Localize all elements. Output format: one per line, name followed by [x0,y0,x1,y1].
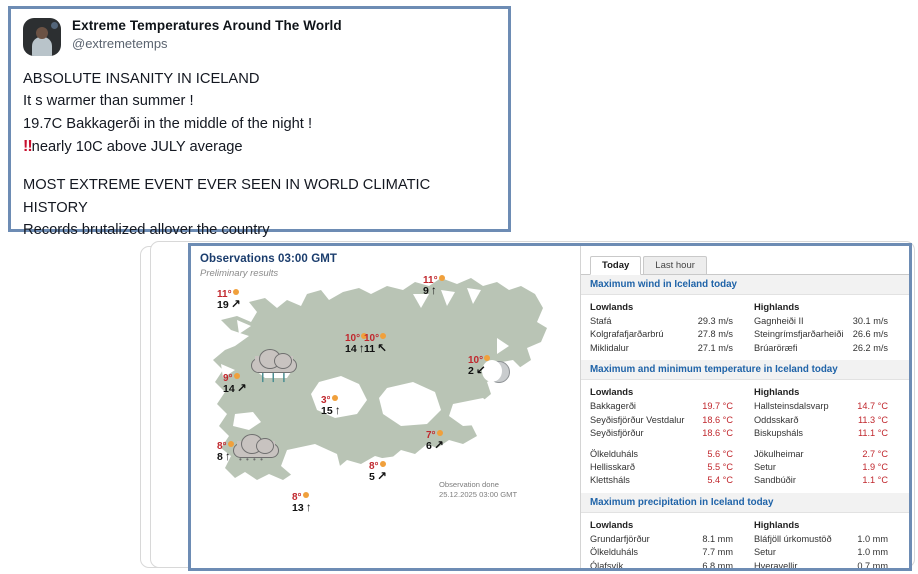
station-value: 7.7 mm [702,546,733,559]
row-gap [754,441,900,448]
station-value: 1.0 mm [857,546,888,559]
avatar-highlight [51,22,58,29]
map-station-reading: 8°13↑ [292,491,312,514]
map-station-reading: 11°19↗ [217,288,241,311]
table-row: Gagnheiði II30.1 m/s [754,315,900,328]
station-value: 11.1 °C [858,427,888,440]
table-row: Bláfjöll úrkomustöð1.0 mm [754,533,900,546]
wind-direction-arrow-icon: ↙ [476,364,486,376]
station-name: Jökulheimar [754,448,804,461]
cloud-snow-icon: • • • • [233,434,279,458]
table-row: Steingrímsfjarðarheiði26.6 m/s [754,328,900,341]
double-exclamation-icon: !! [23,138,32,155]
station-name: Steingrímsfjarðarheiði [754,328,843,341]
table-row: Hellisskarð5.5 °C [590,461,745,474]
station-wind-speed: 19↗ [217,298,241,311]
map-station-reading: 10°11↖ [364,332,387,355]
paragraph-gap [23,159,496,174]
station-name: Gagnheiði II [754,315,804,328]
section-title-wind: Maximum wind in Iceland today [581,275,909,295]
station-dot-icon [439,275,445,281]
observations-data-column: Today Last hour Maximum wind in Iceland … [580,246,909,568]
wind-highlands-header: Highlands [754,301,900,312]
tweet-line-6: Records brutalized allover the country [23,219,496,241]
station-name: Stafá [590,315,611,328]
tab-last-hour[interactable]: Last hour [643,256,707,275]
station-value: 1.0 mm [857,533,888,546]
table-row: Bakkagerði19.7 °C [590,400,745,413]
map-station-reading: 3°15↑ [321,394,341,417]
station-value: 5.6 °C [707,448,733,461]
table-row: Klettsháls5.4 °C [590,474,745,487]
station-value: 1.1 °C [862,474,888,487]
tweet-text: ABSOLUTE INSANITY IN ICELAND It s warmer… [11,56,508,241]
station-dot-icon [380,333,386,339]
table-row: Stafá29.3 m/s [590,315,745,328]
table-row: Setur1.0 mm [754,546,900,559]
table-row: Hveravellir0.7 mm [754,560,900,568]
table-row: Grundarfjörður8.1 mm [590,533,745,546]
tweet-line-3: 19.7C Bakkagerði in the middle of the ni… [23,113,496,135]
station-wind-speed: 15↑ [321,404,341,417]
station-wind-speed: 2↙ [468,364,490,377]
weather-observation-panel: Observations 03:00 GMT Preliminary resul… [188,243,912,571]
tweet-header: Extreme Temperatures Around The World @e… [11,9,508,56]
iceland-map-panel[interactable]: Observations 03:00 GMT Preliminary resul… [191,246,580,568]
observation-note-line-1: Observation done [439,480,517,490]
station-dot-icon [484,355,490,361]
station-value: 26.6 m/s [853,328,888,341]
temperature-lowlands-column: Lowlands Bakkagerði19.7 °C Seyðisfjörður… [590,386,745,488]
station-name: Seyðisfjörður Vestdalur [590,414,684,427]
station-name: Biskupsháls [754,427,803,440]
station-name: Seyðisfjörður [590,427,644,440]
section-temperature-grid: Lowlands Bakkagerði19.7 °C Seyðisfjörður… [581,380,909,493]
table-row: Brúaröræfi26.2 m/s [754,342,900,355]
wind-direction-arrow-icon: ↑ [225,450,231,462]
station-dot-icon [234,373,240,379]
station-value: 29.3 m/s [698,315,733,328]
crescent-moon-icon [488,361,510,383]
station-value: 27.1 m/s [698,342,733,355]
precipitation-lowlands-header: Lowlands [590,519,745,530]
station-wind-speed: 5↗ [369,470,387,483]
precipitation-highlands-column: Highlands Bláfjöll úrkomustöð1.0 mm Setu… [745,519,900,568]
table-row: Oddsskarð11.3 °C [754,414,900,427]
table-row: Jökulheimar2.7 °C [754,448,900,461]
table-row: Ólafsvík6.8 mm [590,560,745,568]
wind-direction-arrow-icon: ↗ [434,439,444,451]
station-name: Bláfjöll úrkomustöð [754,533,832,546]
tweet-card: Extreme Temperatures Around The World @e… [8,6,511,232]
temperature-lowlands-header: Lowlands [590,386,745,397]
wind-lowlands-column: Lowlands Stafá29.3 m/s Kolgrafafjarðarbr… [590,301,745,355]
section-precipitation-grid: Lowlands Grundarfjörður8.1 mm Ölkelduhál… [581,513,909,568]
table-row: Setur1.9 °C [754,461,900,474]
station-value: 26.2 m/s [853,342,888,355]
tab-today[interactable]: Today [590,256,641,275]
station-name: Brúaröræfi [754,342,797,355]
station-value: 18.6 °C [702,427,733,440]
station-dot-icon [303,492,309,498]
station-dot-icon [233,289,239,295]
precipitation-lowlands-column: Lowlands Grundarfjörður8.1 mm Ölkelduhál… [590,519,745,568]
table-row: Sandbúðir1.1 °C [754,474,900,487]
tweet-identity: Extreme Temperatures Around The World @e… [72,18,342,51]
account-handle[interactable]: @extremetemps [72,37,342,52]
tweet-line-2: It s warmer than summer ! [23,90,496,112]
station-value: 2.7 °C [862,448,888,461]
station-value: 5.4 °C [707,474,733,487]
station-value: 19.7 °C [702,400,733,413]
station-wind-speed: 14↗ [223,382,247,395]
station-name: Ólafsvík [590,560,623,568]
observation-note: Observation done 25.12.2025 03:00 GMT [439,480,517,501]
station-name: Oddsskarð [754,414,798,427]
station-value: 18.6 °C [702,414,733,427]
station-wind-speed: 9↑ [423,284,445,297]
station-dot-icon [437,430,443,436]
account-display-name[interactable]: Extreme Temperatures Around The World [72,18,342,34]
station-wind-speed: 11↖ [364,342,387,355]
station-name: Miklidalur [590,342,629,355]
map-station-reading: 8°8↑ [217,440,234,463]
table-row: Hallsteinsdalsvarp14.7 °C [754,400,900,413]
wind-direction-arrow-icon: ↑ [431,284,437,296]
station-value: 27.8 m/s [698,328,733,341]
station-name: Ölkelduháls [590,448,638,461]
station-dot-icon [380,461,386,467]
avatar[interactable] [23,18,61,56]
station-name: Hveravellir [754,560,797,568]
station-value: 1.9 °C [862,461,888,474]
station-name: Hallsteinsdalsvarp [754,400,829,413]
table-row: Ölkelduháls7.7 mm [590,546,745,559]
station-name: Grundarfjörður [590,533,650,546]
iceland-landmass-shape [191,264,580,564]
observation-note-line-2: 25.12.2025 03:00 GMT [439,490,517,500]
tweet-line-1: ABSOLUTE INSANITY IN ICELAND [23,68,496,90]
map-station-reading: 10°2↙ [468,354,490,377]
section-title-temperature: Maximum and minimum temperature in Icela… [581,360,909,380]
station-value: 8.1 mm [702,533,733,546]
station-name: Setur [754,546,776,559]
station-dot-icon [332,395,338,401]
table-row: Kolgrafafjarðarbrú27.8 m/s [590,328,745,341]
wind-direction-arrow-icon: ↗ [377,470,387,482]
row-gap [590,441,745,448]
station-name: Setur [754,461,776,474]
cloud-rain-icon: ❙❙❙ [251,349,297,373]
map-station-reading: 7°6↗ [426,429,444,452]
table-row: Miklidalur27.1 m/s [590,342,745,355]
station-value: 0.7 mm [857,560,888,568]
wind-direction-arrow-icon: ↑ [335,404,341,416]
map-station-reading: 11°9↑ [423,274,445,297]
tab-bar: Today Last hour [581,246,909,275]
station-value: 14.7 °C [857,400,888,413]
station-wind-speed: 8↑ [217,450,234,463]
avatar-head [36,27,48,39]
station-name: Bakkagerði [590,400,636,413]
map-station-reading: 9°14↗ [223,372,247,395]
wind-direction-arrow-icon: ↗ [231,298,241,310]
station-value: 5.5 °C [707,461,733,474]
map-station-reading: 8°5↗ [369,460,387,483]
table-row: Ölkelduháls5.6 °C [590,448,745,461]
wind-direction-arrow-icon: ↗ [237,382,247,394]
station-dot-icon [228,441,234,447]
wind-highlands-column: Highlands Gagnheiði II30.1 m/s Steingrím… [745,301,900,355]
station-wind-speed: 13↑ [292,501,312,514]
station-name: Klettsháls [590,474,630,487]
tweet-line-4-text: nearly 10C above JULY average [32,139,243,155]
table-row: Biskupsháls11.1 °C [754,427,900,440]
temperature-highlands-header: Highlands [754,386,900,397]
wind-lowlands-header: Lowlands [590,301,745,312]
wind-direction-arrow-icon: ↑ [306,501,312,513]
station-value: 11.3 °C [858,414,888,427]
table-row: Seyðisfjörður18.6 °C [590,427,745,440]
section-title-precipitation: Maximum precipitation in Iceland today [581,493,909,513]
wind-direction-arrow-icon: ↖ [377,342,387,354]
temperature-highlands-column: Highlands Hallsteinsdalsvarp14.7 °C Odds… [745,386,900,488]
precipitation-highlands-header: Highlands [754,519,900,530]
table-row: Seyðisfjörður Vestdalur18.6 °C [590,414,745,427]
station-name: Kolgrafafjarðarbrú [590,328,664,341]
tweet-line-4: !!nearly 10C above JULY average [23,135,496,159]
station-value: 6.8 mm [702,560,733,568]
tweet-line-5: MOST EXTREME EVENT EVER SEEN IN WORLD CL… [23,174,496,219]
station-name: Sandbúðir [754,474,796,487]
avatar-body [32,37,52,56]
section-wind-grid: Lowlands Stafá29.3 m/s Kolgrafafjarðarbr… [581,295,909,360]
station-wind-speed: 6↗ [426,439,444,452]
station-name: Ölkelduháls [590,546,638,559]
station-value: 30.1 m/s [853,315,888,328]
station-name: Hellisskarð [590,461,635,474]
